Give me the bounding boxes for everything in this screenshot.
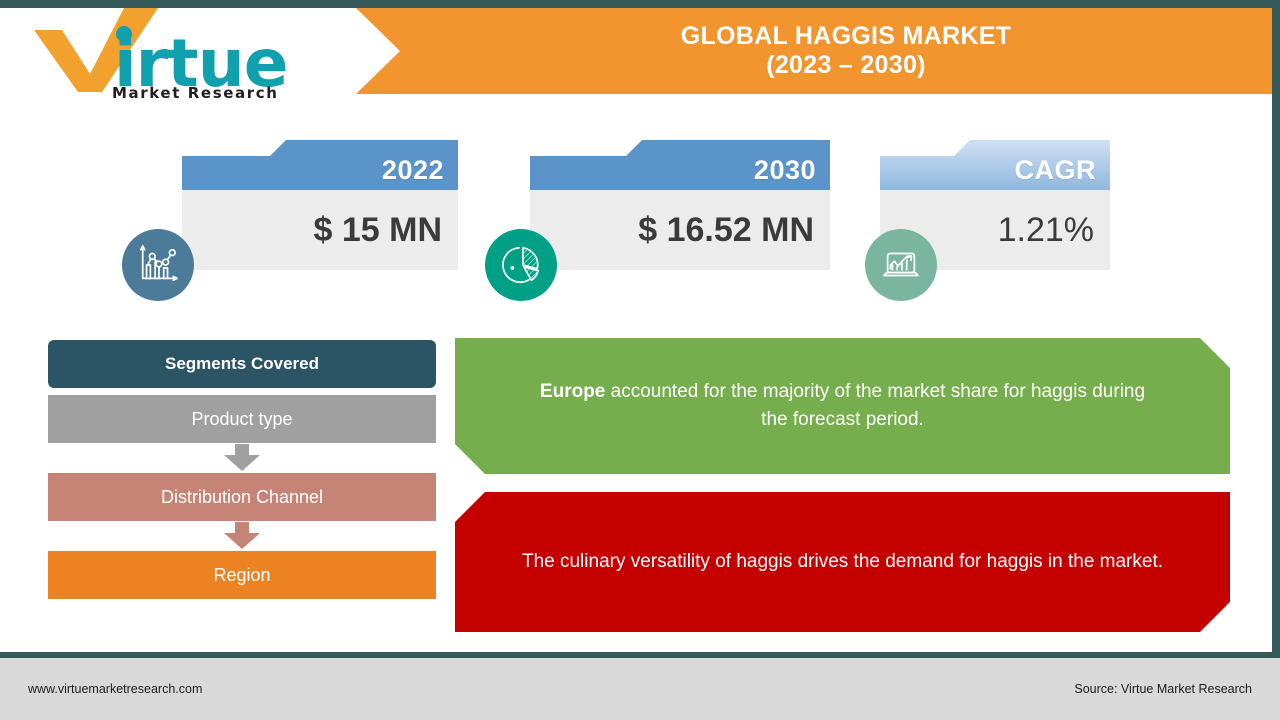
segments-covered-heading: Segments Covered bbox=[48, 340, 436, 388]
page-footer: www.virtuemarketresearch.com Source: Vir… bbox=[0, 652, 1280, 720]
top-frame-strip bbox=[0, 0, 1280, 8]
stat-card-2030-value: $ 16.52 MN bbox=[638, 211, 814, 250]
infographic-page: irtue Market Research GLOBAL HAGGIS MARK… bbox=[0, 0, 1280, 720]
callout-driver-insight: The culinary versatility of haggis drive… bbox=[455, 492, 1230, 632]
page-title-line1: GLOBAL HAGGIS MARKET bbox=[681, 22, 1012, 52]
arrow-down-icon-1 bbox=[48, 443, 436, 473]
laptop-growth-chart-icon bbox=[865, 229, 937, 301]
page-title: GLOBAL HAGGIS MARKET (2023 – 2030) bbox=[420, 8, 1272, 94]
segments-covered-panel: Segments Covered Product type Distributi… bbox=[48, 340, 436, 599]
right-frame-strip bbox=[1272, 0, 1280, 652]
virtue-market-research-logo: irtue Market Research bbox=[28, 8, 328, 98]
footer-source: Source: Virtue Market Research bbox=[1074, 682, 1252, 696]
callout-region-insight: Europe accounted for the majority of the… bbox=[455, 338, 1230, 474]
stat-card-cagr-header: CAGR bbox=[880, 140, 1110, 190]
callout-driver-text: The culinary versatility of haggis drive… bbox=[522, 548, 1163, 576]
stat-card-2030-header: 2030 bbox=[530, 140, 830, 190]
arrow-down-icon-2 bbox=[48, 521, 436, 551]
stat-card-2030-body: $ 16.52 MN bbox=[530, 190, 830, 270]
stat-card-2030-label: 2030 bbox=[754, 155, 816, 186]
segment-item-distribution-channel[interactable]: Distribution Channel bbox=[48, 473, 436, 521]
svg-text:Market Research: Market Research bbox=[112, 84, 279, 98]
stat-card-2022-body: $ 15 MN bbox=[182, 190, 458, 270]
stat-card-2022-header: 2022 bbox=[182, 140, 458, 190]
stat-card-2022-value: $ 15 MN bbox=[314, 211, 443, 250]
segment-item-region[interactable]: Region bbox=[48, 551, 436, 599]
stat-card-2022: 2022 $ 15 MN bbox=[182, 140, 458, 270]
segment-item-product-type[interactable]: Product type bbox=[48, 395, 436, 443]
stat-card-cagr-label: CAGR bbox=[1015, 155, 1097, 186]
stat-card-cagr: CAGR 1.21% bbox=[880, 140, 1110, 270]
callout-region-emphasis: Europe bbox=[540, 381, 605, 402]
line-bar-chart-icon bbox=[122, 229, 194, 301]
footer-website[interactable]: www.virtuemarketresearch.com bbox=[28, 682, 202, 696]
stat-card-2022-label: 2022 bbox=[382, 155, 444, 186]
pie-chart-icon bbox=[485, 229, 557, 301]
stat-card-cagr-value: 1.21% bbox=[998, 211, 1094, 250]
chevron-right-icon bbox=[348, 8, 418, 94]
callout-region-text: accounted for the majority of the market… bbox=[605, 381, 1145, 430]
page-title-line2: (2023 – 2030) bbox=[766, 51, 926, 81]
stat-card-2030: 2030 $ 16.52 MN bbox=[530, 140, 830, 270]
